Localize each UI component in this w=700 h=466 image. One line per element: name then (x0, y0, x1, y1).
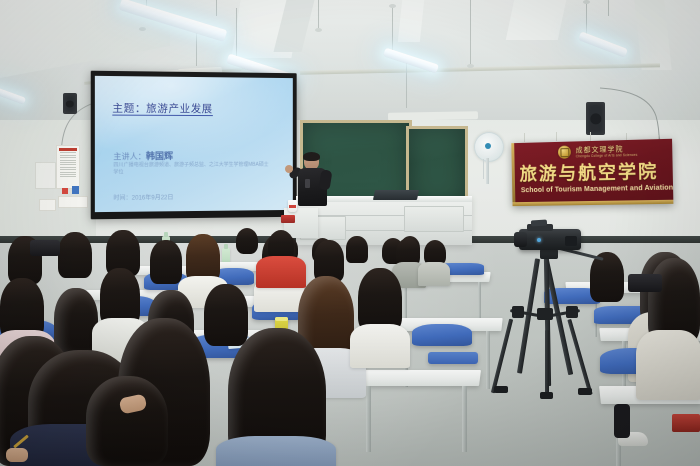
camera-status-led (537, 238, 541, 242)
tripod-leg-lower (545, 330, 549, 396)
slide-date-value: 2016年9月22日 (132, 195, 174, 201)
fan-hub (485, 143, 491, 149)
speaker-hand (285, 165, 293, 173)
school-logo-en-text: Chengdu College of Arts and Sciences (576, 153, 638, 159)
slide-date-line: 时间：2016年9月22日 (113, 192, 173, 202)
student-shirt (350, 324, 410, 368)
wall-sticker (62, 188, 68, 194)
tripod-foot (540, 392, 553, 399)
fan-pole (486, 158, 489, 184)
student-desk (349, 370, 481, 386)
student (236, 228, 258, 254)
light-hanger-rod (216, 0, 217, 16)
speaker-hair (303, 152, 320, 161)
banner-string (590, 132, 591, 141)
desk-leg (404, 282, 407, 322)
wall-label (58, 196, 88, 208)
fan-cord (483, 159, 484, 179)
student (358, 268, 402, 332)
banner-main-cn-text: 旅游与航空学院 (519, 161, 670, 184)
desk-leg (486, 331, 490, 389)
student-shirt (418, 262, 450, 286)
student (590, 252, 624, 302)
camera-viewfinder (531, 219, 547, 226)
banner-string (524, 133, 525, 142)
wall-speaker (586, 102, 605, 135)
slide-title: 主题：旅游产业发展 (112, 100, 212, 116)
tripod-head (540, 249, 558, 259)
slide-title-text: 主题：旅游产业发展 (112, 102, 212, 116)
red-item-on-desk (281, 215, 295, 223)
light-hanger-rod (608, 0, 609, 16)
desk-leg (462, 386, 467, 452)
wall-sticker (72, 186, 79, 194)
school-logo-icon (558, 146, 571, 159)
wall-speaker (63, 93, 77, 114)
light-hanger-cap (389, 4, 396, 8)
light-hanger-rod (318, 0, 319, 30)
light-hanger-cap (467, 64, 474, 68)
shoulder-bag (628, 274, 662, 292)
slide-speaker-label: 主讲人： (113, 152, 146, 161)
classroom-photo: 主题：旅游产业发展 主讲人：韩国辉 四川广播电视台旅游频道、旅游子频总监、之江大… (0, 0, 700, 466)
tripod-foot (578, 388, 592, 395)
speaker-microphone (305, 179, 310, 188)
student-hand (6, 448, 28, 462)
ceiling-beam (506, 0, 567, 40)
wall-fan (474, 132, 502, 160)
slide-speaker-name: 韩国辉 (146, 151, 173, 161)
light-hanger-cap (583, 0, 590, 4)
camera-lens (514, 232, 527, 247)
student (346, 236, 368, 263)
shoulder-bag (30, 240, 60, 256)
camera-handle (565, 236, 577, 246)
school-banner: 成都文理学院 Chengdu College of Arts and Scien… (511, 139, 673, 206)
student-chair (412, 324, 472, 346)
slide-subtitle: 四川广播电视台旅游频道、旅游子频总监、之江大学生学管理MBA硕士学位 (113, 162, 272, 177)
light-hanger-cap (139, 27, 146, 31)
podium-monitor (373, 190, 419, 200)
student (186, 234, 220, 282)
ceiling-beam (634, 0, 671, 70)
speaker-person (293, 153, 333, 205)
projection-screen: 主题：旅游产业发展 主讲人：韩国辉 四川广播电视台旅游频道、旅游子频总监、之江大… (91, 71, 297, 220)
tripod-hub (537, 308, 553, 320)
ceiling-pipe (300, 63, 660, 75)
red-bag (672, 414, 700, 432)
slide-speaker-line: 主讲人：韩国辉 (113, 149, 173, 162)
projection-screen-surface: 主题：旅游产业发展 主讲人：韩国辉 四川广播电视台旅游频道、旅游子频总监、之江大… (95, 76, 293, 212)
student (58, 232, 92, 278)
tripod-foot (494, 386, 508, 393)
wall-schedule-grid (35, 162, 56, 189)
wall-label (39, 199, 56, 211)
banner-string (556, 132, 557, 141)
student-shirt (636, 330, 700, 400)
podium-cabinet (404, 206, 464, 232)
student (150, 240, 182, 284)
ceiling-beam (398, 0, 424, 42)
fluorescent-tube-light (0, 86, 26, 104)
student (86, 376, 168, 466)
tripod-lock (512, 306, 524, 318)
fluorescent-tube-light (578, 31, 628, 57)
light-hanger-rod (406, 58, 407, 108)
chair-seat (428, 352, 478, 364)
banner-main-en-text: School of Tourism Management and Aviatio… (521, 185, 671, 195)
student-shirt (216, 436, 336, 466)
tripod-lock (566, 306, 578, 318)
speaker-right-arm (319, 169, 333, 190)
light-hanger-rod (470, 0, 471, 66)
desk-leg (366, 386, 371, 452)
slide-date-label: 时间： (113, 196, 131, 202)
light-hanger-cap (315, 28, 322, 32)
leg (614, 404, 630, 438)
wall-notice-poster (56, 145, 80, 189)
